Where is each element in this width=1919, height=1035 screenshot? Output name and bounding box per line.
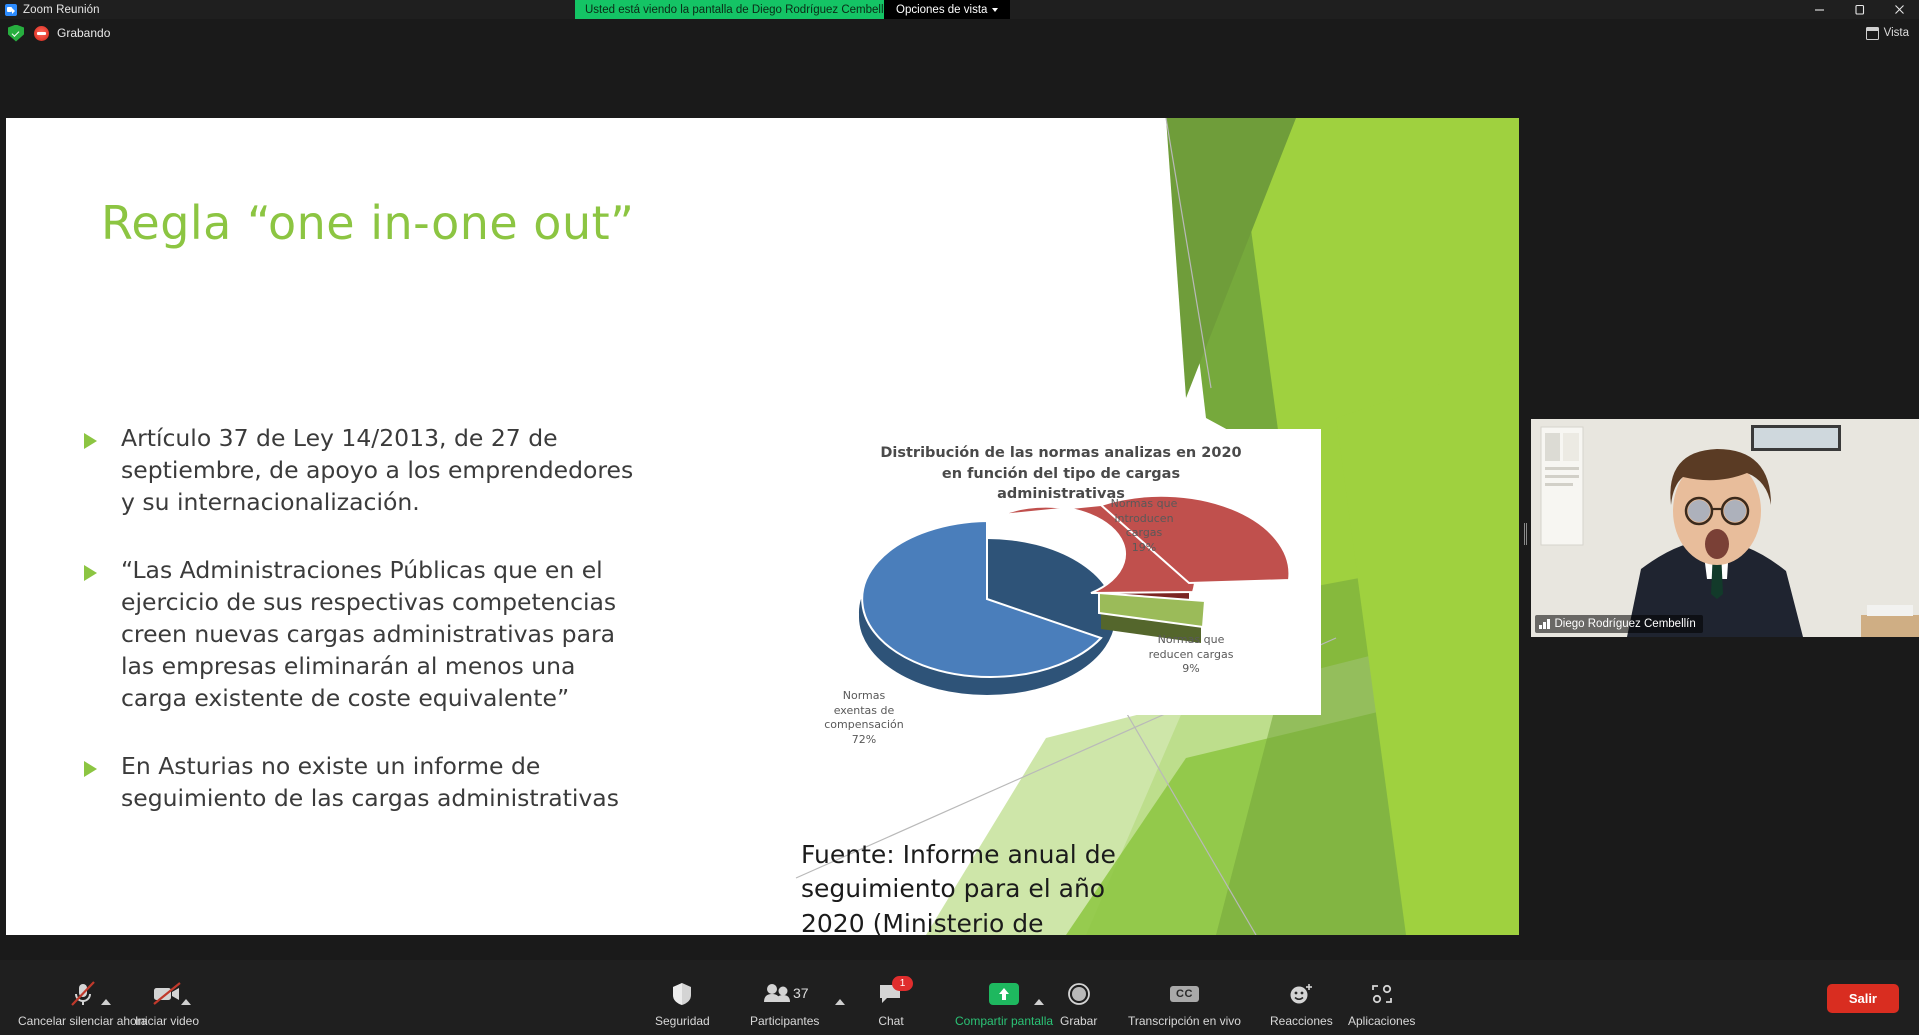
participant-name-badge: Diego Rodríguez Cembellín (1535, 615, 1703, 633)
reactions-label: Reacciones (1270, 1014, 1333, 1028)
meeting-toolbar: Cancelar silenciar ahora Iniciar video (0, 960, 1919, 1035)
share-screen-icon (989, 981, 1019, 1007)
pie-label-exentas: Normas exentas de compensación 72% (809, 689, 919, 747)
security-button[interactable]: Seguridad (655, 981, 710, 1028)
list-item: “Las Administraciones Públicas que en el… (84, 555, 644, 715)
video-options-chevron-icon[interactable] (181, 999, 191, 1005)
triangle-bullet-icon (84, 433, 97, 449)
record-icon (1067, 981, 1091, 1007)
participants-label: Participantes (750, 1014, 819, 1028)
video-panel-drag-handle[interactable] (1524, 522, 1529, 546)
participants-chevron-icon[interactable] (835, 999, 845, 1005)
slide-bullet-list: Artículo 37 de Ley 14/2013, de 27 de sep… (84, 423, 644, 851)
close-button[interactable] (1879, 0, 1919, 19)
reactions-icon (1288, 981, 1314, 1007)
chevron-down-icon (992, 8, 998, 12)
screen-share-banner: Usted está viendo la pantalla de Diego R… (575, 0, 903, 19)
pie-chart: Distribución de las normas analizas en 2… (801, 429, 1321, 715)
maximize-button[interactable] (1839, 0, 1879, 19)
svg-text:37: 37 (793, 985, 808, 1001)
participants-icon: 37 (762, 981, 808, 1007)
pie-svg (801, 487, 1321, 715)
participant-name: Diego Rodríguez Cembellín (1555, 618, 1696, 630)
camera-off-icon (150, 981, 184, 1007)
chart-source-note: Fuente: Informe anual de seguimiento par… (801, 838, 1161, 935)
recording-icon[interactable] (34, 26, 49, 41)
window-controls (1799, 0, 1919, 19)
triangle-bullet-icon (84, 761, 97, 777)
recording-label: Grabando (57, 26, 110, 40)
bullet-text: Artículo 37 de Ley 14/2013, de 27 de sep… (121, 423, 644, 519)
pie-label-reducen: Normas que reducen cargas 9% (1131, 633, 1251, 677)
closed-captions-icon: CC (1170, 981, 1199, 1007)
leave-meeting-button[interactable]: Salir (1827, 984, 1899, 1013)
apps-icon (1370, 981, 1394, 1007)
pie-label-introducen: Normas que introducen cargas 19% (1089, 497, 1199, 555)
shield-icon (671, 981, 693, 1007)
bullet-text: En Asturias no existe un informe de segu… (121, 751, 644, 815)
record-button[interactable]: Grabar (1060, 981, 1097, 1028)
start-video-label: Iniciar video (135, 1014, 199, 1028)
chat-label: Chat (878, 1014, 903, 1028)
meeting-status-bar: Grabando Vista (0, 19, 1919, 47)
audio-level-icon (1539, 619, 1550, 629)
video-feed (1531, 419, 1919, 637)
apps-button[interactable]: Aplicaciones (1348, 981, 1415, 1028)
view-layout-label: Vista (1884, 27, 1909, 39)
app-identity: Zoom Reunión (0, 4, 100, 16)
chat-icon: 1 (878, 981, 904, 1007)
zoom-logo-icon (5, 4, 17, 16)
apps-label: Aplicaciones (1348, 1014, 1415, 1028)
triangle-bullet-icon (84, 565, 97, 581)
view-options-label: Opciones de vista (896, 4, 987, 16)
pie-graphic: Normas que introducen cargas 19% Normas … (801, 487, 1321, 715)
security-label: Seguridad (655, 1014, 710, 1028)
participant-video-tile[interactable]: Diego Rodríguez Cembellín (1531, 419, 1919, 637)
mute-label: Cancelar silenciar ahora (18, 1014, 147, 1028)
view-layout-button[interactable]: Vista (1866, 27, 1909, 40)
chat-unread-badge: 1 (892, 976, 913, 991)
window-title: Zoom Reunión (23, 4, 100, 16)
reactions-button[interactable]: Reacciones (1270, 981, 1333, 1028)
list-item: Artículo 37 de Ley 14/2013, de 27 de sep… (84, 423, 644, 519)
zoom-meeting-window: Zoom Reunión Usted está viendo la pantal… (0, 0, 1919, 1035)
minimize-button[interactable] (1799, 0, 1839, 19)
audio-options-chevron-icon[interactable] (101, 999, 111, 1005)
record-label: Grabar (1060, 1014, 1097, 1028)
grid-view-icon (1866, 27, 1879, 40)
share-options-chevron-icon[interactable] (1034, 999, 1044, 1005)
microphone-muted-icon (68, 981, 98, 1007)
share-screen-label: Compartir pantalla (955, 1014, 1053, 1028)
shield-icon[interactable] (8, 25, 24, 42)
shared-slide: Regla “one in-one out” Artículo 37 de Le… (6, 118, 1519, 935)
mute-button[interactable]: Cancelar silenciar ahora (18, 981, 147, 1028)
chat-button[interactable]: 1 Chat (878, 981, 904, 1028)
slide-title: Regla “one in-one out” (101, 196, 634, 250)
live-transcription-button[interactable]: CC Transcripción en vivo (1128, 981, 1241, 1028)
participants-button[interactable]: 37 Participantes (750, 981, 819, 1028)
view-options-button[interactable]: Opciones de vista (884, 0, 1010, 19)
list-item: En Asturias no existe un informe de segu… (84, 751, 644, 815)
bullet-text: “Las Administraciones Públicas que en el… (121, 555, 644, 715)
live-transcription-label: Transcripción en vivo (1128, 1014, 1241, 1028)
